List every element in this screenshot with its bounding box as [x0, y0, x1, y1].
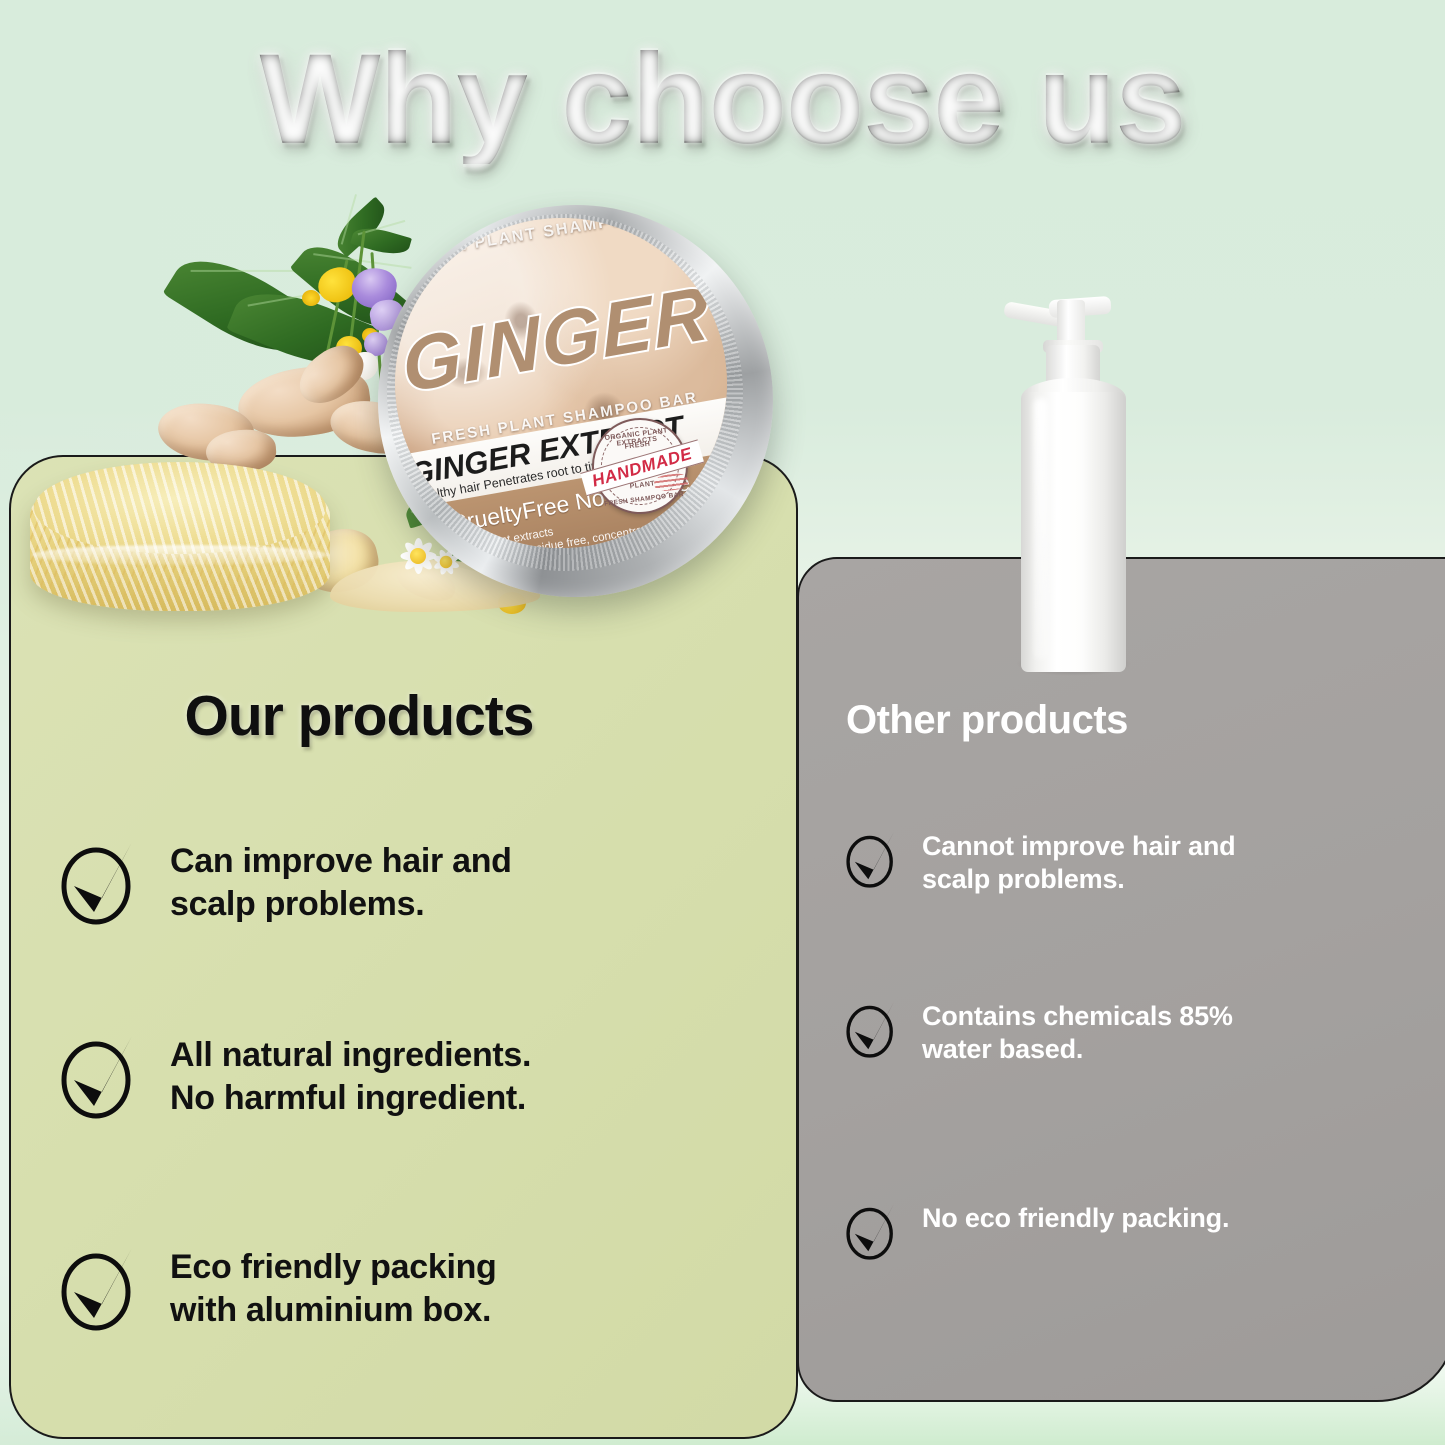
check-circle-icon [52, 1242, 144, 1334]
list-item: Contains chemicals 85% water based. [840, 998, 1233, 1067]
bottle-highlight [1034, 398, 1048, 660]
check-circle-icon [840, 828, 902, 890]
check-circle-icon [52, 836, 144, 928]
list-item-label: Cannot improve hair and scalp problems. [922, 830, 1235, 897]
list-item-label: No eco friendly packing. [922, 1202, 1229, 1235]
product-tin: FRESH PLANT SHAMPOO BAR GINGER FRESH PLA… [378, 205, 773, 597]
list-item-label: All natural ingredients. No harmful ingr… [170, 1034, 531, 1119]
other-products-heading: Other products [846, 698, 1406, 743]
tin-label: FRESH PLANT SHAMPOO BAR GINGER FRESH PLA… [379, 202, 744, 565]
our-products-heading: Our products [9, 683, 709, 749]
shampoo-bar-top [34, 462, 326, 554]
yellow-flower-icon [302, 290, 320, 306]
list-item: Cannot improve hair and scalp problems. [840, 828, 1235, 897]
list-item-label: Eco friendly packing with aluminium box. [170, 1246, 497, 1331]
check-circle-icon [840, 1200, 902, 1262]
list-item-label: Contains chemicals 85% water based. [922, 1000, 1233, 1067]
list-item: All natural ingredients. No harmful ingr… [52, 1030, 531, 1122]
shampoo-bar-highlight [32, 545, 328, 565]
list-item: No eco friendly packing. [840, 1200, 1229, 1262]
other-products-panel [797, 557, 1445, 1402]
list-item: Can improve hair and scalp problems. [52, 836, 512, 928]
check-circle-icon [52, 1030, 144, 1122]
list-item: Eco friendly packing with aluminium box. [52, 1242, 497, 1334]
check-circle-icon [840, 998, 902, 1060]
page-title: Why choose us [0, 36, 1445, 164]
list-item-label: Can improve hair and scalp problems. [170, 840, 512, 925]
